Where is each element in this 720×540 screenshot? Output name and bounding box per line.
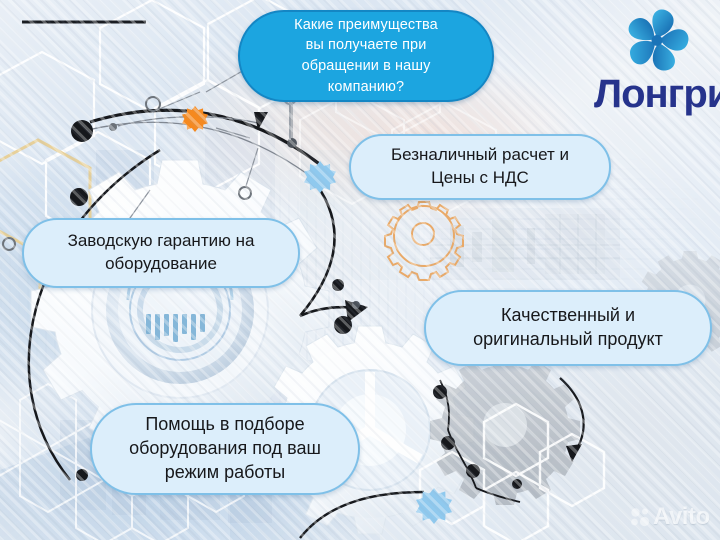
promo-banner: Какие преимущества вы получаете при обра…: [0, 0, 720, 540]
question-bubble-text: Какие преимущества вы получаете при обра…: [294, 15, 438, 97]
company-logo[interactable]: Лонгри: [596, 6, 720, 118]
avito-dots-icon: [630, 507, 650, 527]
benefit-bubble-warranty: Заводскую гарантию на оборудование: [22, 218, 300, 288]
dot-blue-starburst-bottom: [416, 488, 452, 524]
question-line-2: вы получаете при: [294, 35, 438, 56]
benefit-payment-line-2: Цены с НДС: [391, 167, 569, 190]
hexagon-outline-bottom: [420, 404, 604, 540]
avito-label: Avito: [653, 503, 710, 531]
benefit-selection-line-3: режим работы: [129, 461, 321, 485]
dot-blue-starburst: [304, 161, 336, 193]
benefit-selection-line-2: оборудования под ваш: [129, 437, 321, 461]
benefit-bubble-payment: Безналичный расчет и Цены с НДС: [349, 134, 611, 200]
benefit-bubble-quality: Качественный и оригинальный продукт: [424, 290, 712, 366]
benefit-quality-text: Качественный и оригинальный продукт: [473, 304, 663, 352]
question-bubble: Какие преимущества вы получаете при обра…: [238, 10, 494, 102]
benefit-warranty-line-2: оборудование: [68, 253, 255, 276]
benefit-bubble-selection: Помощь в подборе оборудования под ваш ре…: [90, 403, 360, 495]
benefit-quality-line-2: оригинальный продукт: [473, 328, 663, 352]
logo-wordmark: Лонгри: [594, 72, 720, 116]
benefit-warranty-line-1: Заводскую гарантию на: [68, 230, 255, 253]
question-line-4: компанию?: [294, 77, 438, 98]
benefit-selection-text: Помощь в подборе оборудования под ваш ре…: [129, 413, 321, 485]
benefit-quality-line-1: Качественный и: [473, 304, 663, 328]
benefit-payment-text: Безналичный расчет и Цены с НДС: [391, 144, 569, 189]
dot-orange-starburst: [182, 106, 208, 132]
benefit-warranty-text: Заводскую гарантию на оборудование: [68, 230, 255, 275]
gear-outline-orange: [385, 202, 463, 280]
benefit-selection-line-1: Помощь в подборе: [129, 413, 321, 437]
gear-gray-right: [430, 355, 580, 505]
benefit-payment-line-1: Безналичный расчет и: [391, 144, 569, 167]
question-line-1: Какие преимущества: [294, 15, 438, 36]
question-line-3: обращении в нашу: [294, 56, 438, 77]
pinwheel-flower-icon: [618, 6, 696, 78]
avito-watermark: Avito: [630, 503, 710, 531]
